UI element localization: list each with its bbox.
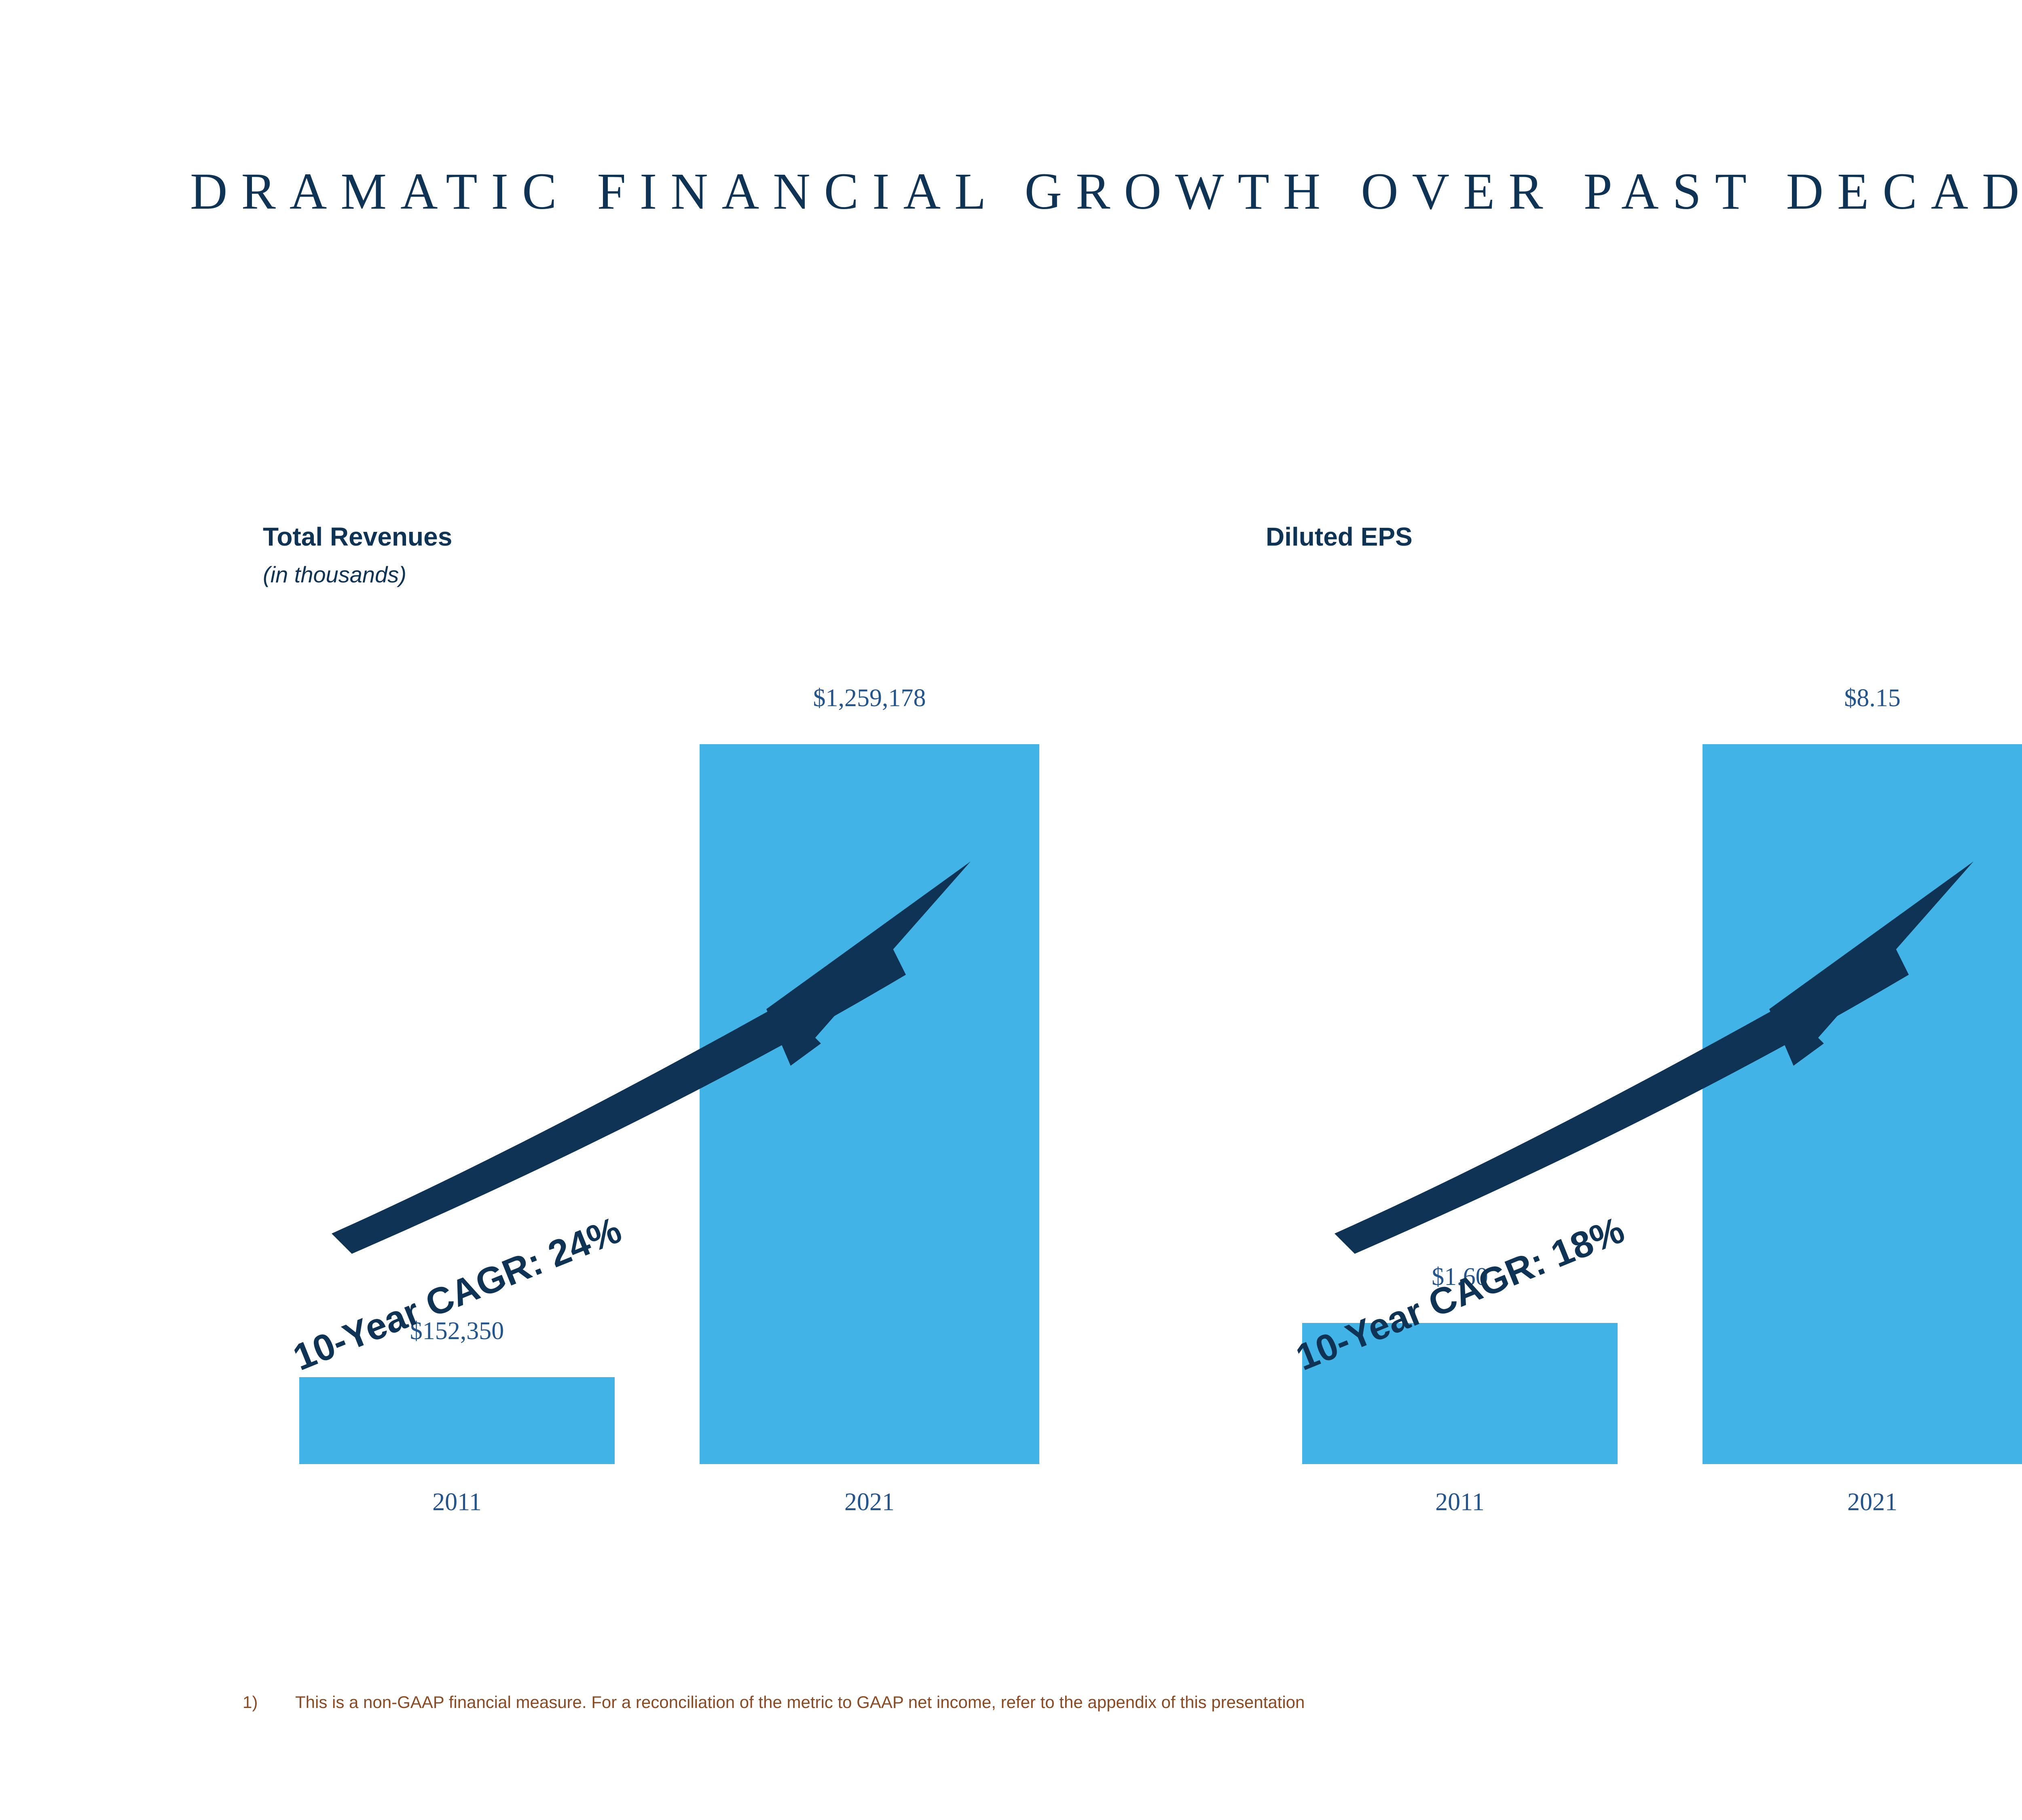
page-title: DRAMATIC FINANCIAL GROWTH OVER PAST DECA… <box>190 162 2022 221</box>
year-label-2011: 2011 <box>1302 1488 1618 1517</box>
chart-title-text: Diluted EPS <box>1266 522 1413 551</box>
plot-area: $152,350 $1,259,178 10-Year CAGR: 24% 20… <box>259 655 1250 1533</box>
chart-panel-diluted-eps: Diluted EPS $1.60 $8.15 10-Year CAGR: 18… <box>1262 522 2022 1533</box>
year-label-2011: 2011 <box>299 1488 615 1517</box>
chart-title-text: Total Revenues <box>263 522 452 551</box>
chart-panel-total-revenues: Total Revenues (in thousands) $152,350 $… <box>259 522 1250 1533</box>
chart-title: Total Revenues <box>263 522 452 552</box>
footnote-marker: 1) <box>243 1693 295 1712</box>
value-label-2021: $8.15 <box>1703 684 2022 713</box>
value-label-2021: $1,259,178 <box>700 684 1039 713</box>
year-label-2021: 2021 <box>700 1488 1039 1517</box>
plot-area: $1.60 $8.15 10-Year CAGR: 18% 2011 2021 <box>1262 655 2022 1533</box>
bar-2021 <box>700 744 1039 1464</box>
year-label-2021: 2021 <box>1703 1488 2022 1517</box>
bar-2011 <box>299 1377 615 1464</box>
bar-2021 <box>1703 744 2022 1464</box>
chart-subtitle: (in thousands) <box>263 561 406 588</box>
cagr-annotation: 10-Year CAGR: 24% <box>288 1209 628 1379</box>
footnote-text: This is a non-GAAP financial measure. Fo… <box>295 1693 1305 1712</box>
chart-title: Diluted EPS <box>1266 522 1413 552</box>
footnote: 1)This is a non-GAAP financial measure. … <box>243 1693 2022 1712</box>
